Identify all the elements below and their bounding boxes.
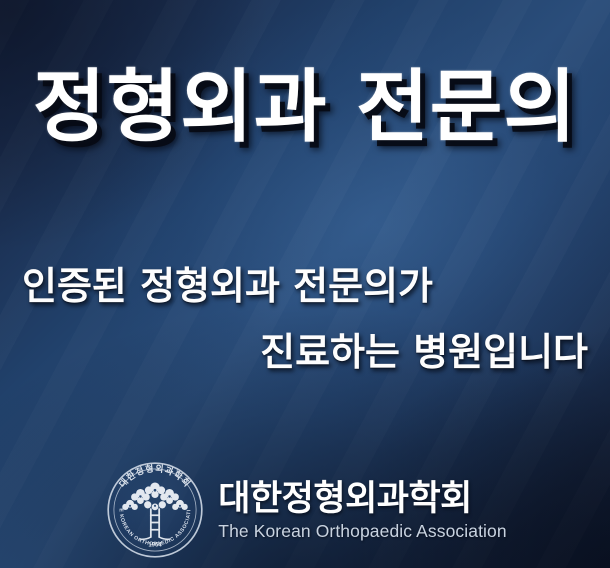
svg-text:1964: 1964 bbox=[149, 542, 163, 548]
logo-korean-name: 대한정형외과학회 bbox=[218, 482, 506, 517]
logo-text-block: 대한정형외과학회 The Korean Orthopaedic Associat… bbox=[218, 480, 506, 541]
orthopedic-specialist-banner: 정형외과 전문의 인증된 정형외과 전문의가 진료하는 병원입니다 bbox=[0, 0, 610, 568]
logo-english-name: The Korean Orthopaedic Association bbox=[218, 523, 506, 541]
page-title: 정형외과 전문의 bbox=[0, 66, 610, 149]
association-logo: 대한정형외과학회 THE KOREAN ORTHOPAEDIC ASSOCIAT… bbox=[0, 452, 610, 568]
tree-emblem-icon: 대한정형외과학회 THE KOREAN ORTHOPAEDIC ASSOCIAT… bbox=[103, 458, 207, 562]
subtitle-line-2: 진료하는 병원입니다 bbox=[22, 330, 588, 374]
subtitle-line-1: 인증된 정형외과 전문의가 bbox=[22, 264, 588, 308]
